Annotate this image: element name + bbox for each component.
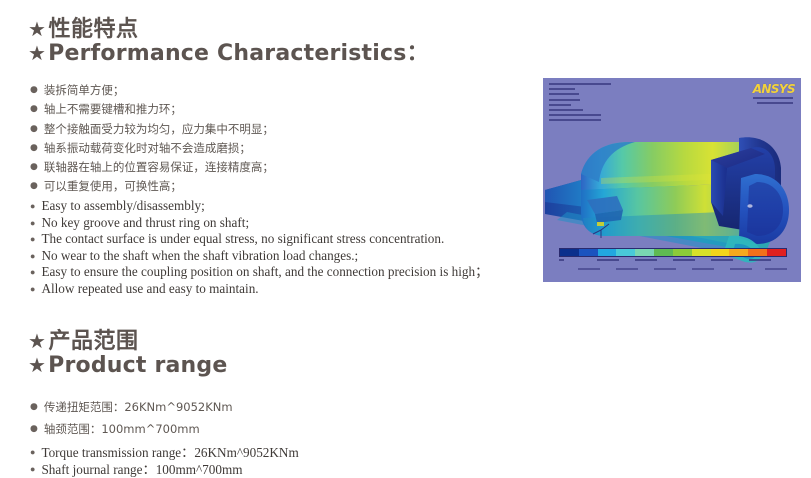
bullet-icon: ● bbox=[30, 139, 38, 158]
list-item: ●No wear to the shaft when the shaft vib… bbox=[30, 248, 488, 265]
list-item: ●装拆简单方便； bbox=[30, 81, 274, 100]
fea-color-legend bbox=[559, 248, 787, 275]
list-item: ●Shaft journal range：100mm^700mm bbox=[30, 461, 299, 478]
star-icon: ★ bbox=[28, 329, 46, 353]
product-range-bullets-cn: ●传递扭矩范围：26KNm^9052KNm ●轴颈范围：100mm^700mm bbox=[30, 396, 233, 440]
list-item-label: Shaft journal range：100mm^700mm bbox=[41, 461, 242, 478]
bullet-icon: ● bbox=[30, 120, 38, 139]
performance-heading-en-text: Performance Characteristics： bbox=[48, 41, 429, 66]
list-item-label: Easy to ensure the coupling position on … bbox=[41, 264, 488, 281]
star-icon: ★ bbox=[28, 41, 46, 65]
list-item: ●Easy to assembly/disassembly; bbox=[30, 198, 488, 215]
list-item: ●轴上不需要键槽和推力环； bbox=[30, 100, 274, 119]
list-item: ●轴颈范围：100mm^700mm bbox=[30, 418, 233, 440]
bullet-icon: ● bbox=[30, 418, 38, 440]
legend-upper-ticks bbox=[559, 259, 787, 266]
list-item: ●轴系振动载荷变化时对轴不会造成磨损； bbox=[30, 139, 274, 158]
product-range-heading-en: ★Product range bbox=[28, 353, 227, 378]
product-range-heading-cn: ★产品范围 bbox=[28, 330, 227, 353]
bullet-icon: ● bbox=[30, 231, 35, 248]
list-item: ●Easy to ensure the coupling position on… bbox=[30, 264, 488, 281]
bullet-icon: ● bbox=[30, 281, 35, 298]
bullet-icon: ● bbox=[30, 198, 35, 215]
product-range-heading-cn-text: 产品范围 bbox=[48, 329, 138, 354]
list-item: ●The contact surface is under equal stre… bbox=[30, 231, 488, 248]
bullet-icon: ● bbox=[30, 158, 38, 177]
performance-heading-cn-text: 性能特点 bbox=[48, 17, 138, 42]
star-icon: ★ bbox=[28, 17, 46, 41]
bullet-icon: ● bbox=[30, 248, 35, 265]
product-range-heading: ★产品范围 ★Product range bbox=[28, 330, 227, 378]
list-item-label: 整个接触面受力较为均匀，应力集中不明显； bbox=[44, 120, 274, 139]
list-item-label: Easy to assembly/disassembly; bbox=[41, 198, 204, 215]
list-item: ●联轴器在轴上的位置容易保证，连接精度高； bbox=[30, 158, 274, 177]
bullet-icon: ● bbox=[30, 81, 38, 100]
bullet-icon: ● bbox=[30, 264, 35, 281]
bullet-icon: ● bbox=[30, 177, 38, 196]
list-item-label: 可以重复使用，可换性高； bbox=[44, 177, 182, 196]
legend-lower-ticks bbox=[559, 268, 787, 275]
bullet-icon: ● bbox=[30, 396, 38, 418]
fea-solution-info-block bbox=[549, 83, 635, 125]
performance-heading: ★性能特点 ★Performance Characteristics： bbox=[28, 18, 429, 66]
ansys-fea-image: ANSYS bbox=[543, 78, 801, 282]
product-range-bullets-en: ●Torque transmission range：26KNm^9052KNm… bbox=[30, 444, 299, 478]
performance-heading-cn: ★性能特点 bbox=[28, 18, 429, 41]
list-item-label: 轴系振动载荷变化时对轴不会造成磨损； bbox=[44, 139, 251, 158]
bullet-icon: ● bbox=[30, 100, 38, 119]
product-range-heading-en-text: Product range bbox=[48, 353, 227, 378]
list-item: ●Torque transmission range：26KNm^9052KNm bbox=[30, 444, 299, 461]
list-item: ●整个接触面受力较为均匀，应力集中不明显； bbox=[30, 120, 274, 139]
catalog-page: ★性能特点 ★Performance Characteristics： ●装拆简… bbox=[0, 0, 811, 477]
list-item-label: 装拆简单方便； bbox=[44, 81, 125, 100]
fea-timestamp-block bbox=[749, 97, 793, 107]
performance-heading-en: ★Performance Characteristics： bbox=[28, 41, 429, 66]
bullet-icon: ● bbox=[30, 215, 35, 232]
bullet-icon: ● bbox=[30, 461, 35, 478]
list-item-label: The contact surface is under equal stres… bbox=[41, 231, 444, 248]
list-item-label: 轴颈范围：100mm^700mm bbox=[44, 418, 200, 440]
list-item: ●No key groove and thrust ring on shaft; bbox=[30, 215, 488, 232]
list-item-label: 轴上不需要键槽和推力环； bbox=[44, 100, 182, 119]
legend-color-bar bbox=[559, 248, 787, 257]
list-item: ●传递扭矩范围：26KNm^9052KNm bbox=[30, 396, 233, 418]
list-item-label: Torque transmission range：26KNm^9052KNm bbox=[41, 444, 298, 461]
list-item-label: No wear to the shaft when the shaft vibr… bbox=[41, 248, 358, 265]
performance-bullets-en: ●Easy to assembly/disassembly; ●No key g… bbox=[30, 198, 488, 298]
star-icon: ★ bbox=[28, 353, 46, 377]
list-item-label: No key groove and thrust ring on shaft; bbox=[41, 215, 249, 232]
bullet-icon: ● bbox=[30, 444, 35, 461]
ansys-logo: ANSYS bbox=[753, 82, 795, 96]
list-item-label: 传递扭矩范围：26KNm^9052KNm bbox=[44, 396, 233, 418]
list-item-label: Allow repeated use and easy to maintain. bbox=[41, 281, 258, 298]
list-item: ●Allow repeated use and easy to maintain… bbox=[30, 281, 488, 298]
list-item: ●可以重复使用，可换性高； bbox=[30, 177, 274, 196]
performance-bullets-cn: ●装拆简单方便； ●轴上不需要键槽和推力环； ●整个接触面受力较为均匀，应力集中… bbox=[30, 81, 274, 197]
list-item-label: 联轴器在轴上的位置容易保证，连接精度高； bbox=[44, 158, 274, 177]
